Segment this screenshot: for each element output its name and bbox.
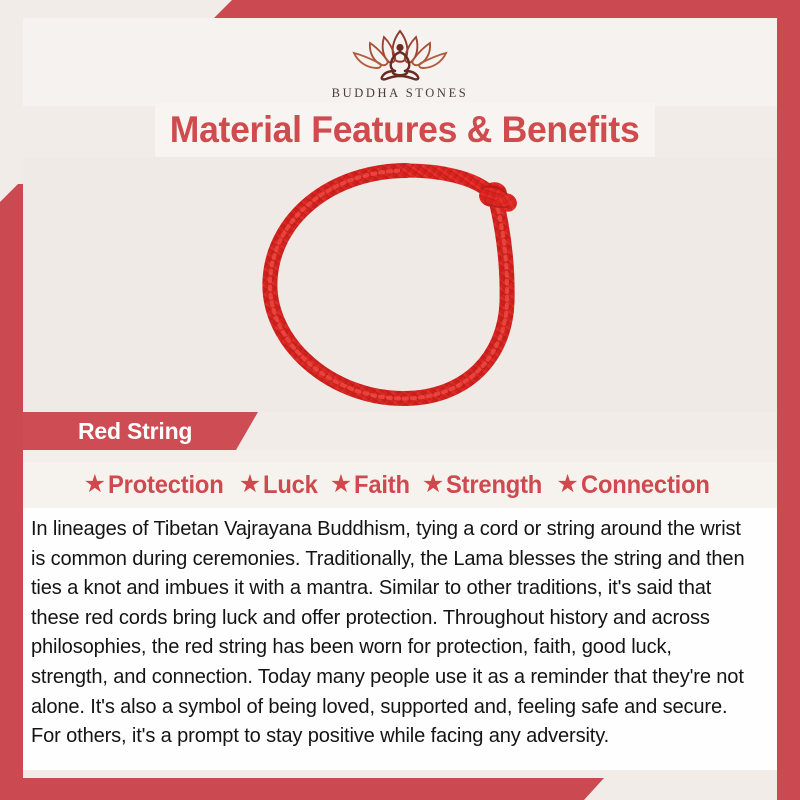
- star-icon: ★: [556, 472, 578, 497]
- frame-band-left: [0, 184, 23, 800]
- infographic-page: BUDDHA STONES Material Features & Benefi…: [0, 0, 800, 800]
- brand-logo: BUDDHA STONES: [332, 23, 469, 101]
- feature-label: Faith: [354, 471, 410, 500]
- feature-label: Protection: [108, 471, 224, 500]
- frame-band-right: [777, 0, 800, 800]
- red-string-bracelet-image: [235, 157, 565, 412]
- star-icon: ★: [422, 472, 444, 497]
- feature-item-connection: ★ Connection: [556, 471, 716, 500]
- feature-label: Luck: [263, 471, 318, 500]
- feature-label: Connection: [581, 471, 710, 500]
- frame-band-bottom: [0, 778, 604, 800]
- feature-item-protection: ★ Protection: [84, 471, 230, 500]
- feature-label: Strength: [446, 471, 542, 500]
- description-panel: In lineages of Tibetan Vajrayana Buddhis…: [23, 508, 777, 770]
- feature-keyword-list: ★ Protection ★ Luck ★ Faith ★ Strength ★…: [23, 462, 777, 508]
- page-title: Material Features & Benefits: [170, 109, 640, 151]
- product-image-area: [23, 157, 777, 412]
- feature-item-faith: ★ Faith: [330, 471, 413, 500]
- feature-item-luck: ★ Luck: [239, 471, 321, 500]
- section-ribbon: Red String: [23, 412, 258, 450]
- section-ribbon-label: Red String: [78, 418, 192, 445]
- lotus-meditation-icon: [334, 23, 466, 85]
- brand-name: BUDDHA STONES: [332, 86, 469, 101]
- description-paragraph: In lineages of Tibetan Vajrayana Buddhis…: [31, 515, 746, 752]
- title-banner: Material Features & Benefits: [155, 103, 655, 157]
- feature-item-strength: ★ Strength: [422, 471, 548, 500]
- ribbon-spacer: [23, 450, 777, 462]
- star-icon: ★: [84, 472, 106, 497]
- star-icon: ★: [239, 472, 261, 497]
- brand-header: BUDDHA STONES: [23, 18, 777, 106]
- frame-band-top: [214, 0, 800, 18]
- star-icon: ★: [330, 472, 352, 497]
